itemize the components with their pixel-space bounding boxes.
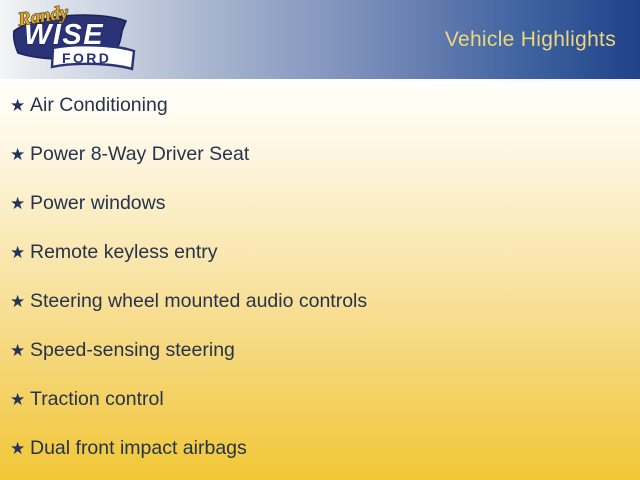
list-item-label: Speed-sensing steering <box>30 341 235 361</box>
slide-header: WISE FORD Randy Vehicle Highlights <box>0 0 640 79</box>
star-icon: ★ <box>10 391 30 408</box>
list-item-label: Air Conditioning <box>30 96 168 116</box>
star-icon: ★ <box>10 342 30 359</box>
star-icon: ★ <box>10 97 30 114</box>
list-item: ★ Power windows <box>0 179 640 228</box>
logo-banner-text: FORD <box>62 50 111 66</box>
highlights-panel: ★ Air Conditioning ★ Power 8-Way Driver … <box>0 81 640 480</box>
list-item: ★ Dual front impact airbags <box>0 424 640 473</box>
star-icon: ★ <box>10 293 30 310</box>
list-item-label: Traction control <box>30 390 164 410</box>
randy-wise-ford-logo: WISE FORD Randy <box>8 1 140 79</box>
list-item: ★ Steering wheel mounted audio controls <box>0 277 640 326</box>
list-item-label: Remote keyless entry <box>30 243 218 263</box>
list-item-label: Steering wheel mounted audio controls <box>30 292 367 312</box>
vehicle-highlights-slide: WISE FORD Randy Vehicle Highlights ★ Air… <box>0 0 640 480</box>
list-item: ★ Traction control <box>0 375 640 424</box>
star-icon: ★ <box>10 244 30 261</box>
star-icon: ★ <box>10 195 30 212</box>
list-item: ★ Remote keyless entry <box>0 228 640 277</box>
list-item-label: Dual front impact airbags <box>30 439 247 459</box>
list-item-label: Power 8-Way Driver Seat <box>30 145 249 165</box>
vehicle-highlights-list: ★ Air Conditioning ★ Power 8-Way Driver … <box>0 81 640 473</box>
star-icon: ★ <box>10 440 30 457</box>
list-item: ★ Speed-sensing steering <box>0 326 640 375</box>
list-item: ★ Air Conditioning <box>0 81 640 130</box>
list-item-label: Power windows <box>30 194 165 214</box>
page-title: Vehicle Highlights <box>445 28 616 52</box>
list-item: ★ Power 8-Way Driver Seat <box>0 130 640 179</box>
star-icon: ★ <box>10 146 30 163</box>
